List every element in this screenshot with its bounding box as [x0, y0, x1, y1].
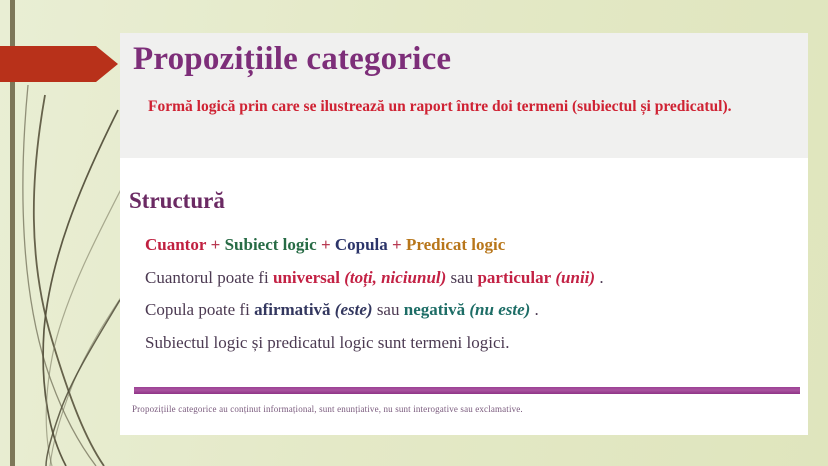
line-cuantor-universal: universal: [273, 268, 340, 287]
line-cuantor-conjunction: sau: [451, 268, 478, 287]
line-copula-lead: Copula poate fi: [145, 300, 254, 319]
slide-canvas: Propozițiile categorice Formă logică pri…: [0, 0, 828, 466]
line-copula-conjunction: sau: [377, 300, 404, 319]
line-cuantor: Cuantorul poate fi universal (toți, nici…: [145, 262, 795, 295]
line-cuantor-lead: Cuantorul poate fi: [145, 268, 273, 287]
slide-subtitle: Formă logică prin care se ilustrează un …: [148, 93, 778, 120]
line-copula-negativa-ex: (nu este): [469, 300, 530, 319]
body-content: Cuantor + Subiect logic + Copula + Predi…: [145, 229, 795, 360]
line-cuantor-particular: particular: [477, 268, 551, 287]
formula-term-copula: Copula: [335, 235, 388, 254]
section-heading-structura: Structură: [129, 188, 225, 214]
red-arrow-banner: [0, 46, 118, 82]
formula-line: Cuantor + Subiect logic + Copula + Predi…: [145, 229, 795, 262]
line-copula-negativa: negativă: [404, 300, 465, 319]
formula-plus-1: +: [211, 235, 225, 254]
footnote-text: Propozițiile categorice au conținut info…: [132, 404, 792, 414]
formula-term-subiect-logic: Subiect logic: [225, 235, 317, 254]
line-copula-period: .: [535, 300, 539, 319]
page-title: Propozițiile categorice: [133, 41, 451, 78]
line-cuantor-period: .: [599, 268, 603, 287]
line-cuantor-universal-ex: (toți, niciunul): [344, 268, 446, 287]
line-copula-afirmativa: afirmativă: [254, 300, 330, 319]
formula-term-cuantor: Cuantor: [145, 235, 206, 254]
content-card: Propozițiile categorice Formă logică pri…: [120, 33, 808, 435]
formula-plus-2: +: [321, 235, 335, 254]
line-cuantor-particular-ex: (unii): [555, 268, 595, 287]
footer-divider: [134, 387, 800, 394]
line-copula: Copula poate fi afirmativă (este) sau ne…: [145, 294, 795, 327]
line-termeni-logici: Subiectul logic și predicatul logic sunt…: [145, 327, 795, 360]
line-copula-afirmativa-ex: (este): [335, 300, 373, 319]
formula-plus-3: +: [392, 235, 406, 254]
formula-term-predicat-logic: Predicat logic: [406, 235, 505, 254]
